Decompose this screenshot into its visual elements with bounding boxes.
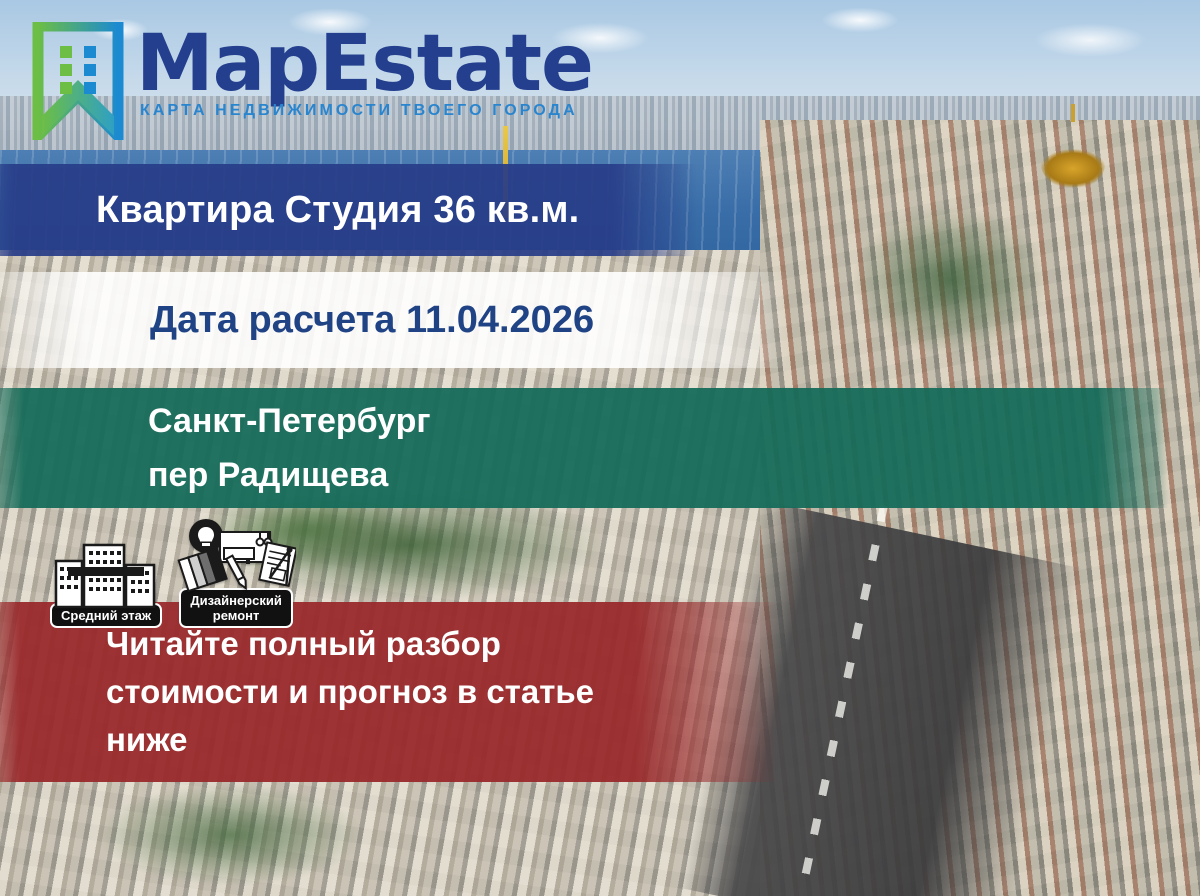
- calculation-date: Дата расчета 11.04.2026: [150, 299, 790, 342]
- brand-wordmark: MapEstate: [136, 22, 593, 106]
- property-banner: Квартира Студия 36 кв.м.: [0, 164, 696, 256]
- designer-renovation-icon: [176, 518, 296, 596]
- property-title: Квартира Студия 36 кв.м.: [96, 189, 696, 232]
- park-greenery-b: [820, 180, 1080, 380]
- park-greenery-c: [60, 770, 400, 896]
- feature-badges: Средний этаж: [50, 518, 296, 628]
- bookmark-building-icon: [32, 22, 124, 140]
- badge-middle-floor: Средний этаж: [50, 539, 162, 628]
- date-banner: Дата расчета 11.04.2026: [0, 272, 790, 368]
- location-banner: Санкт-Петербург пер Радищева: [0, 388, 1168, 508]
- brand-logo[interactable]: MapEstate КАРТА НЕДВИЖИМОСТИ ТВОЕГО ГОРО…: [32, 22, 593, 140]
- cta-line-2: стоимости и прогноз в статье: [106, 668, 778, 716]
- cta-banner: Читайте полный разбор стоимости и прогно…: [0, 602, 778, 782]
- apartment-building-icon: [54, 539, 158, 611]
- location-street: пер Радищева: [148, 448, 1168, 502]
- brand-tagline: КАРТА НЕДВИЖИМОСТИ ТВОЕГО ГОРОДА: [140, 102, 593, 120]
- location-city: Санкт-Петербург: [148, 394, 1168, 448]
- listing-poster: MapEstate КАРТА НЕДВИЖИМОСТИ ТВОЕГО ГОРО…: [0, 0, 1200, 896]
- badge-designer-renovation: Дизайнерский ремонт: [176, 518, 296, 628]
- cta-line-3: ниже: [106, 716, 778, 764]
